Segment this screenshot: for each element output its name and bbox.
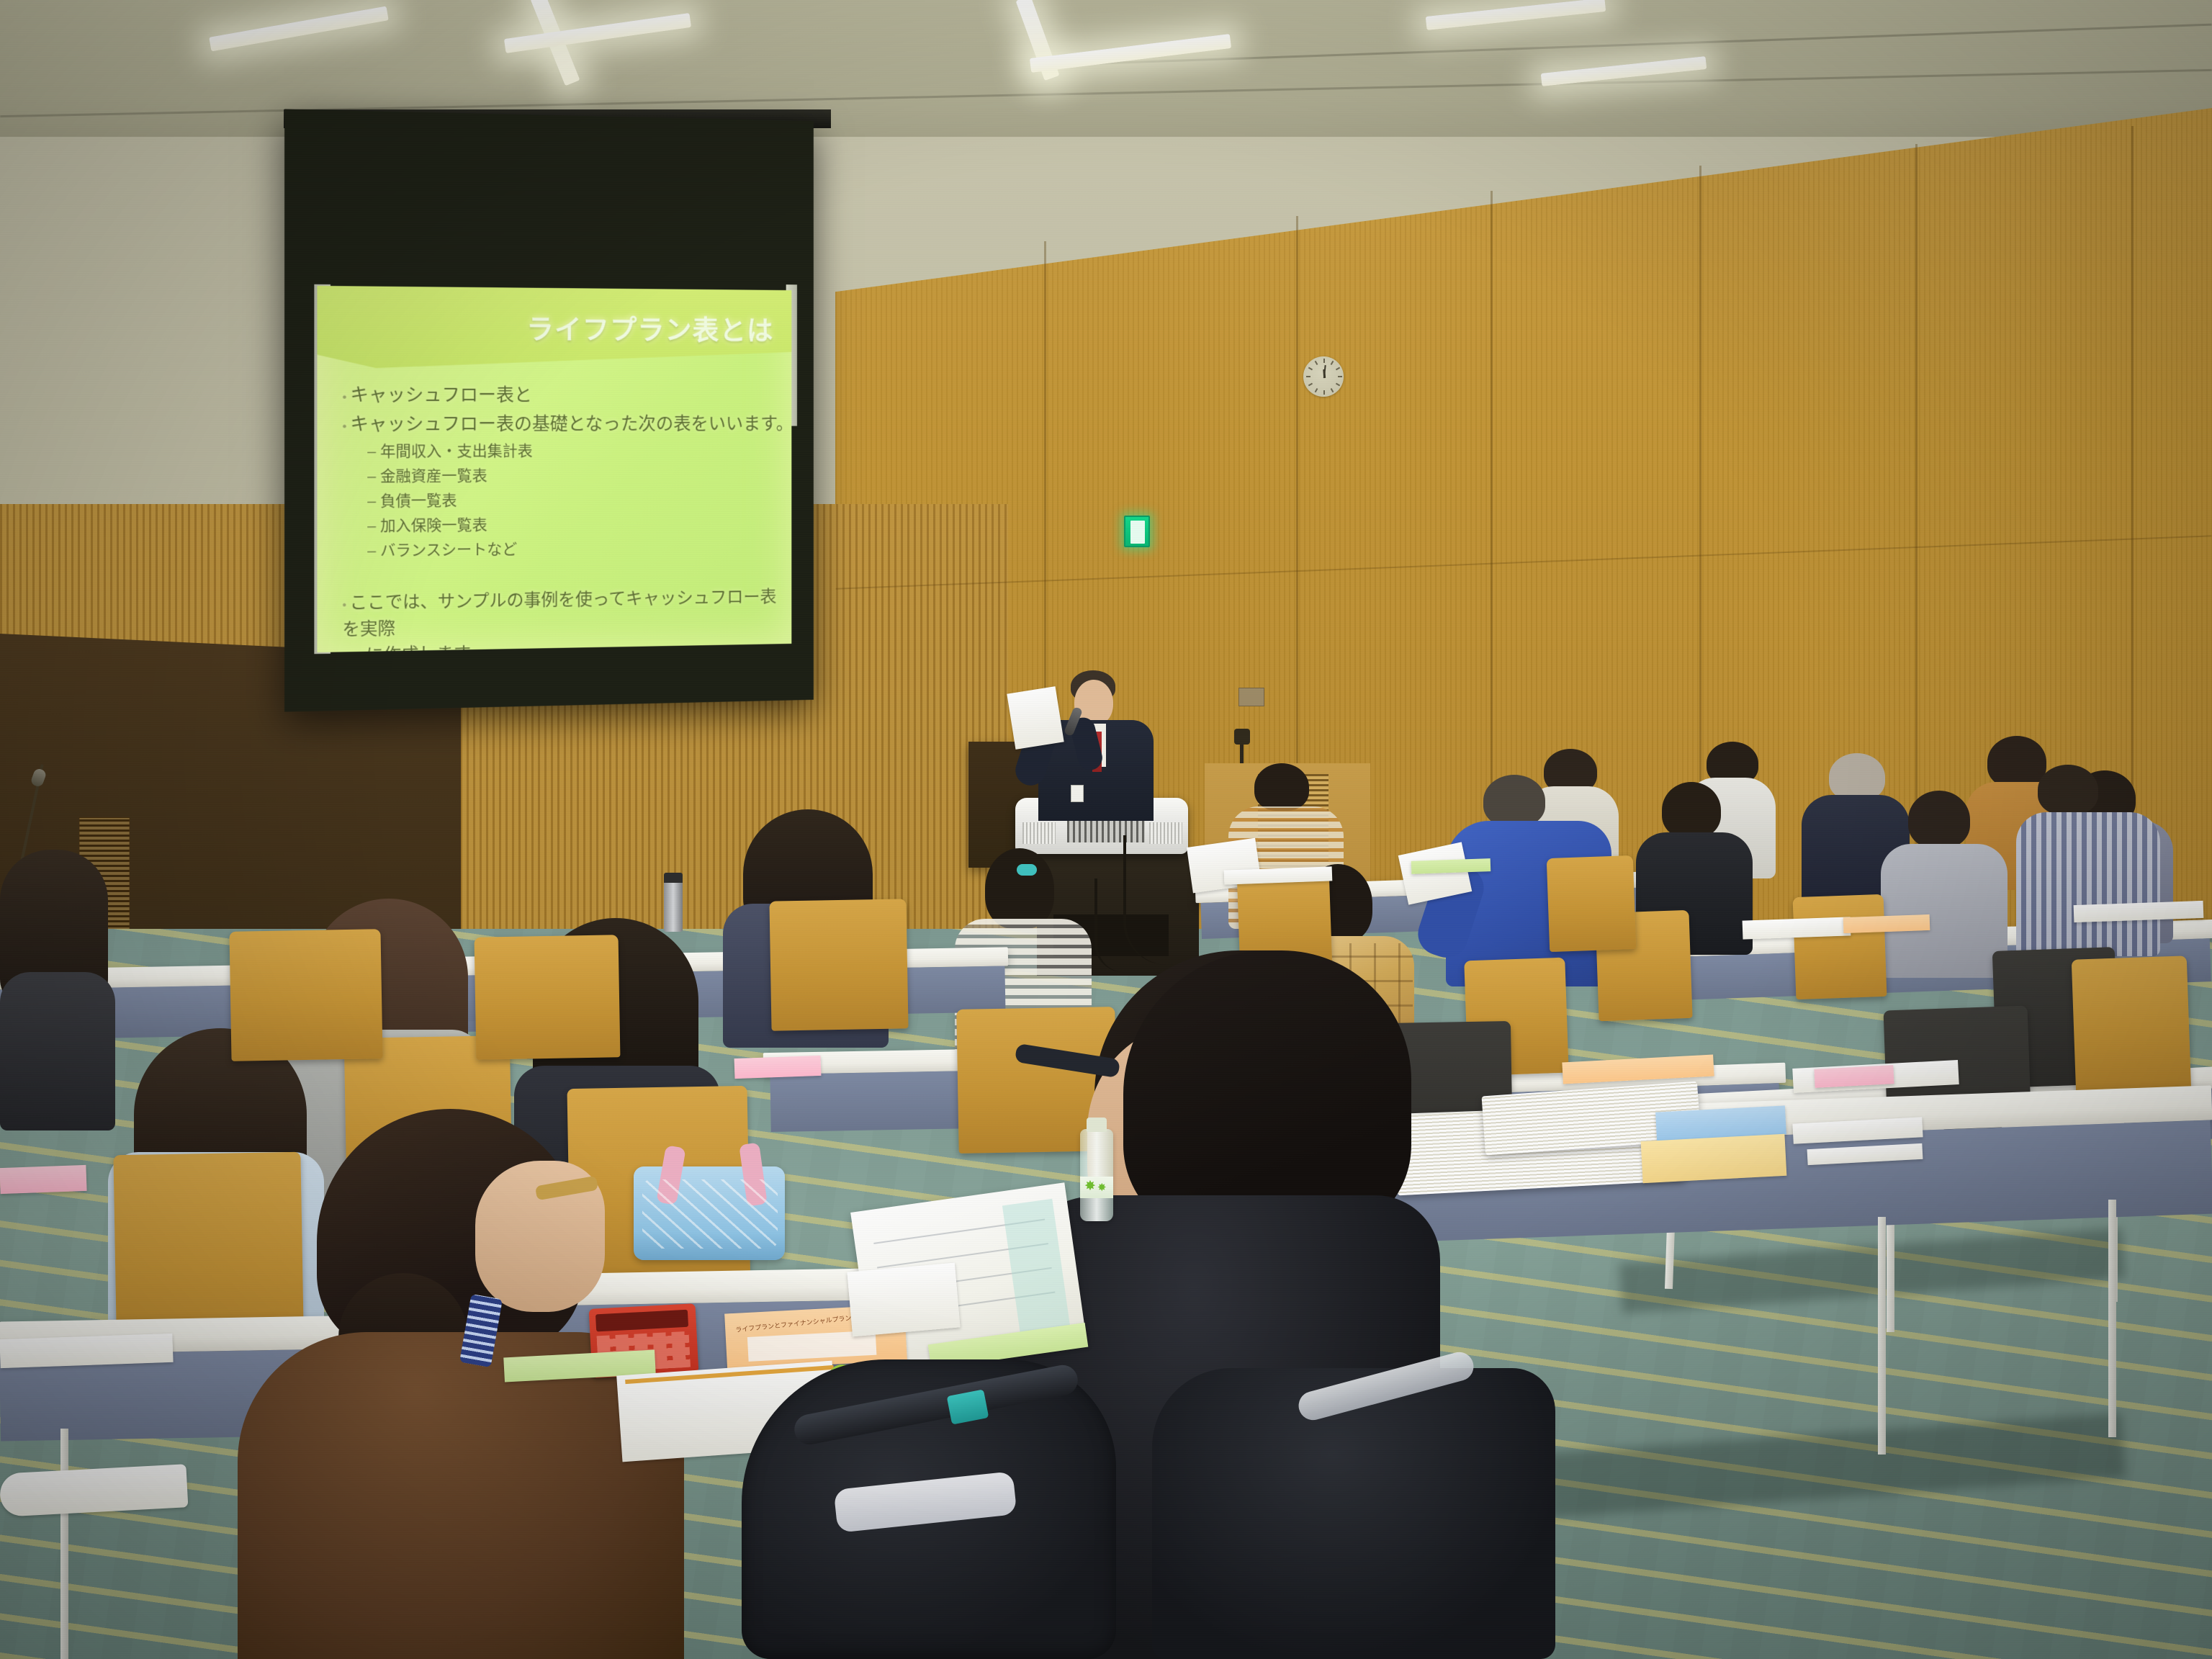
handout	[0, 1334, 174, 1368]
table-leg	[2108, 1200, 2116, 1437]
presenter-handout	[1007, 686, 1064, 750]
handout	[734, 1056, 822, 1079]
slide-title: ライフプラン表とは	[526, 307, 773, 348]
slide-bullet: キャッシュフロー表の基礎となった次の表をいいます。	[342, 410, 778, 439]
slide-sub-bullet: 負債一覧表	[367, 487, 778, 514]
chair	[1793, 894, 1887, 999]
handout	[1843, 914, 1930, 933]
chair	[229, 929, 382, 1061]
slide-sub-bullet: 年間収入・支出集計表	[367, 439, 778, 464]
slide-closing-line: ここでは、サンプルの事例を使ってキャッシュフロー表を実際	[342, 585, 778, 643]
projected-slide: ライフプラン表とは キャッシュフロー表と キャッシュフロー表の基礎となった次の表…	[317, 286, 791, 652]
ceiling-speaker-icon	[1234, 729, 1250, 745]
wall-seam	[1915, 144, 1917, 871]
hair-clip	[1017, 864, 1037, 876]
wall-clock	[1303, 356, 1344, 397]
wall-outlet	[1238, 688, 1264, 706]
projector-cable	[1123, 835, 1166, 965]
handout-title: ライフプランとファイナンシャルプラン	[735, 1313, 852, 1334]
handout	[847, 1263, 960, 1337]
table-leg	[60, 1429, 68, 1659]
projection-screen: ライフプラン表とは キャッシュフロー表と キャッシュフロー表の基礎となった次の表…	[284, 109, 814, 711]
handout	[1743, 917, 1851, 939]
slide-bullet: キャッシュフロー表と	[342, 381, 778, 409]
calculator-display	[595, 1310, 688, 1332]
handout	[1411, 858, 1491, 874]
exit-sign-icon	[1124, 516, 1150, 547]
wall-seam	[2131, 126, 2134, 853]
chair	[475, 935, 621, 1059]
slide-sub-bullet: バランスシートなど	[367, 535, 778, 564]
handout	[0, 1165, 87, 1194]
chair	[2072, 956, 2192, 1096]
presenter-badge	[1071, 785, 1084, 802]
thermos-flask	[664, 880, 683, 932]
star-icon: ✸	[1084, 1178, 1096, 1195]
slide-sub-bullet: 金融資産一覧表	[367, 463, 778, 490]
water-bottle	[1080, 1129, 1113, 1221]
slide-sub-bullet: 加入保険一覧表	[367, 511, 778, 539]
bag-pattern	[642, 1179, 778, 1249]
table-leg	[1878, 1217, 1886, 1455]
star-icon: ✸	[1097, 1181, 1107, 1194]
booklet-cover	[1641, 1134, 1787, 1183]
chair	[1547, 855, 1636, 952]
black-jacket	[1152, 1368, 1555, 1659]
seminar-room-photo: ライフプラン表とは キャッシュフロー表と キャッシュフロー表の基礎となった次の表…	[0, 0, 2212, 1659]
bottle-cap	[1087, 1118, 1107, 1132]
chair	[769, 899, 908, 1030]
thermos-cap	[664, 873, 683, 883]
slide-body: キャッシュフロー表と キャッシュフロー表の基礎となった次の表をいいます。 年間収…	[342, 381, 778, 652]
power-cable	[1094, 878, 1123, 972]
